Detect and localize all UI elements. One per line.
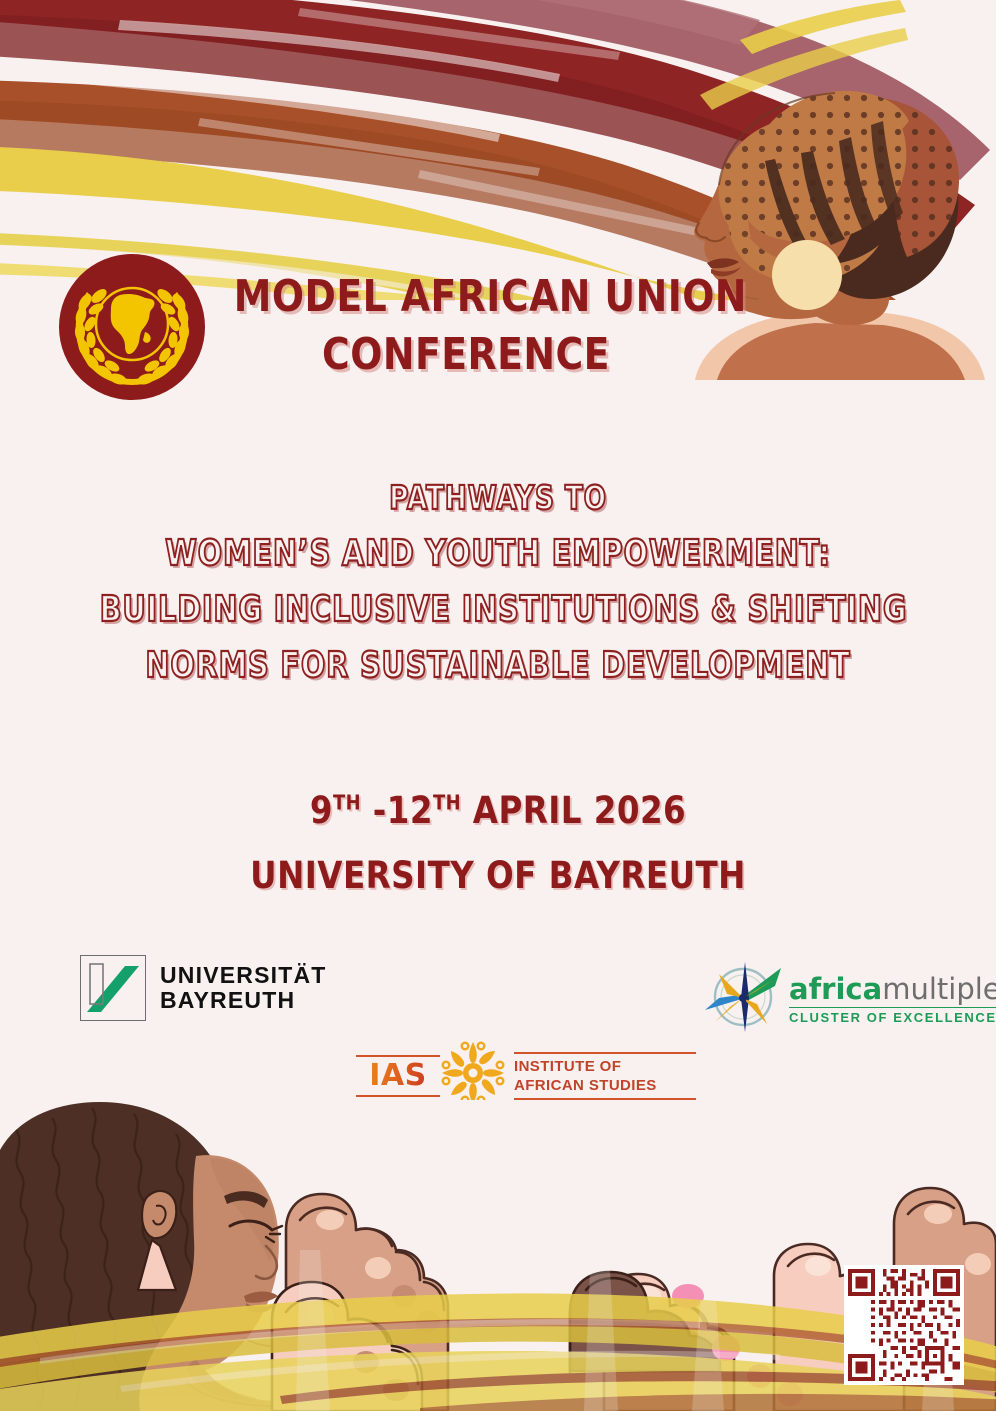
date-ordinal-1: TH	[333, 791, 361, 815]
theme-line-1: PATHWAYS TO	[100, 470, 897, 526]
theme-line-3: BUILDING INCLUSIVE INSTITUTIONS & SHIFTI…	[100, 582, 897, 638]
ias-acronym-block: IAS	[356, 1055, 440, 1097]
universitat-bayreuth-logo: UNIVERSITÄT BAYREUTH	[80, 955, 327, 1021]
african-union-emblem	[57, 252, 207, 402]
conference-poster: MODEL AFRICAN UNION CONFERENCE PATHWAYS …	[0, 0, 996, 1411]
ias-acronym: IAS	[356, 1057, 440, 1095]
theme-line-2: WOMEN’S AND YOUTH EMPOWERMENT:	[100, 526, 897, 582]
event-details: 9TH -12TH APRIL 2026 UNIVERSITY OF BAYRE…	[0, 778, 996, 908]
bayreuth-line-1: UNIVERSITÄT	[160, 963, 327, 988]
africa-multiple-wordmark: africamultiple CLUSTER OF EXCELLENCE	[789, 974, 996, 1026]
africa-multiple-tagline: CLUSTER OF EXCELLENCE	[789, 1010, 996, 1025]
ias-rule-bottom-left	[356, 1095, 440, 1097]
page-title: MODEL AFRICAN UNION CONFERENCE	[196, 268, 736, 384]
bayreuth-wordmark: UNIVERSITÄT BAYREUTH	[160, 963, 327, 1013]
africa-multiple-divider	[789, 1007, 996, 1009]
title-line-1: MODEL AFRICAN UNION	[234, 268, 698, 326]
date-ordinal-2: TH	[433, 791, 461, 815]
bayreuth-line-2: BAYREUTH	[160, 988, 327, 1013]
theme-line-4: NORMS FOR SUSTAINABLE DEVELOPMENT	[100, 638, 897, 694]
conference-theme: PATHWAYS TO WOMEN’S AND YOUTH EMPOWERMEN…	[0, 470, 996, 694]
ias-name: INSTITUTE OF AFRICAN STUDIES	[514, 1054, 696, 1098]
title-line-2: CONFERENCE	[234, 326, 698, 384]
qr-code[interactable]	[844, 1265, 964, 1385]
africa-multiple-logo: africamultiple CLUSTER OF EXCELLENCE	[705, 958, 996, 1041]
africa-multiple-name: africamultiple	[789, 974, 996, 1005]
date-month-year: APRIL 2026	[461, 789, 686, 832]
event-venue: UNIVERSITY OF BAYREUTH	[60, 843, 936, 908]
ias-name-block: INSTITUTE OF AFRICAN STUDIES	[514, 1052, 696, 1100]
multiple-word: multiple	[882, 972, 996, 1006]
ias-name-line-1: INSTITUTE OF	[514, 1057, 696, 1076]
date-day-start: 9	[310, 789, 333, 832]
date-range-sep: -12	[361, 789, 433, 832]
bayreuth-mark-icon	[80, 955, 146, 1021]
africa-word: africa	[789, 972, 882, 1006]
compass-rose-icon	[705, 958, 783, 1041]
ias-name-line-2: AFRICAN STUDIES	[514, 1076, 696, 1095]
event-date: 9TH -12TH APRIL 2026	[60, 778, 936, 843]
